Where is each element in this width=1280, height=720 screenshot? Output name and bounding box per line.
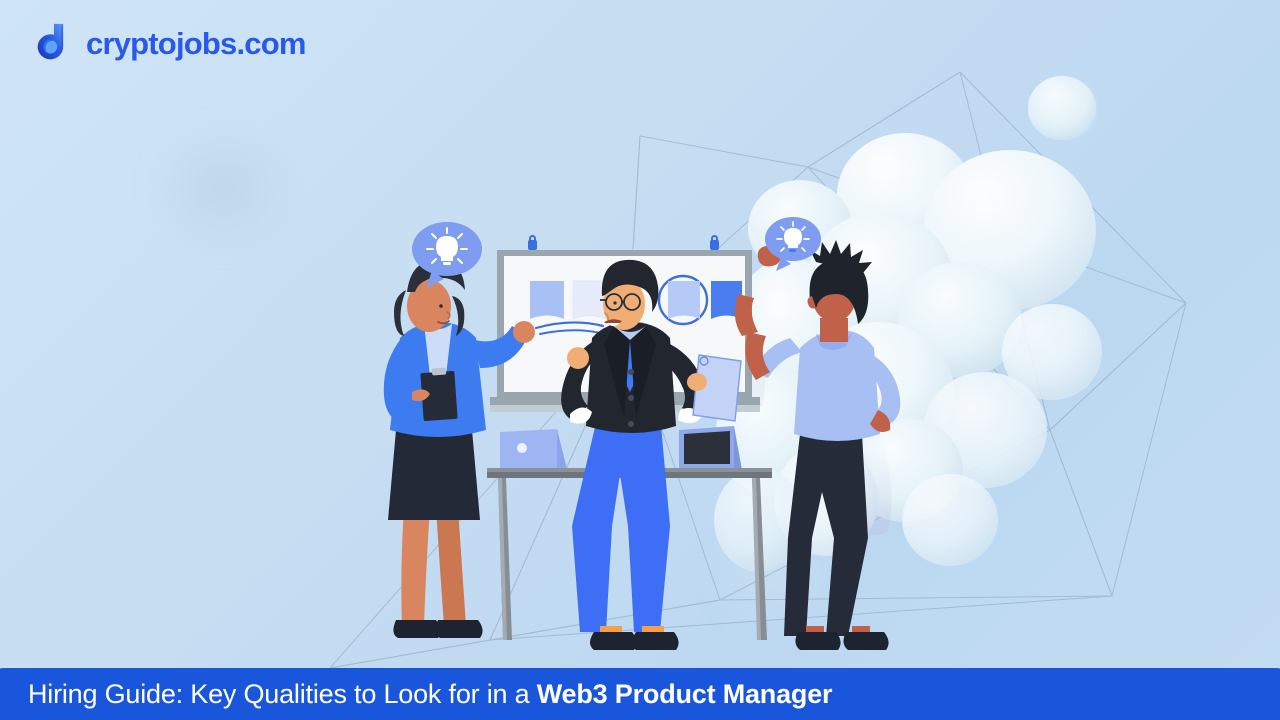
- tablet-stand-right: [679, 426, 742, 470]
- illustration-scene: [0, 0, 1280, 720]
- shoe-left: [590, 632, 637, 650]
- site-logo-text: cryptojobs.com: [86, 28, 306, 59]
- shoe-left: [795, 632, 840, 650]
- laptop-open-left: [500, 429, 567, 469]
- right-hand: [687, 373, 707, 391]
- cryptojobs-droplet-logo-icon: [34, 22, 74, 64]
- site-logo[interactable]: cryptojobs.com: [34, 22, 306, 64]
- shoe-right: [632, 632, 679, 650]
- shoe-right: [435, 620, 482, 638]
- raised-fist: [513, 321, 535, 343]
- trousers: [572, 414, 670, 632]
- article-title-emphasis: Web3 Product Manager: [537, 679, 833, 709]
- sticky-note-1: [530, 281, 564, 319]
- shoe-right: [843, 632, 888, 650]
- article-title-banner: Hiring Guide: Key Qualities to Look for …: [0, 668, 1280, 720]
- left-fist: [567, 347, 589, 369]
- trousers: [784, 434, 868, 636]
- sticky-note-3: [668, 281, 700, 319]
- shoe-left: [393, 620, 440, 638]
- hero-banner-image: cryptojobs.com Hiring Guide: Key Qualiti…: [0, 0, 1280, 720]
- article-title-lead: Hiring Guide: Key Qualities to Look for …: [28, 679, 537, 709]
- skirt: [388, 430, 480, 520]
- article-title: Hiring Guide: Key Qualities to Look for …: [0, 681, 832, 708]
